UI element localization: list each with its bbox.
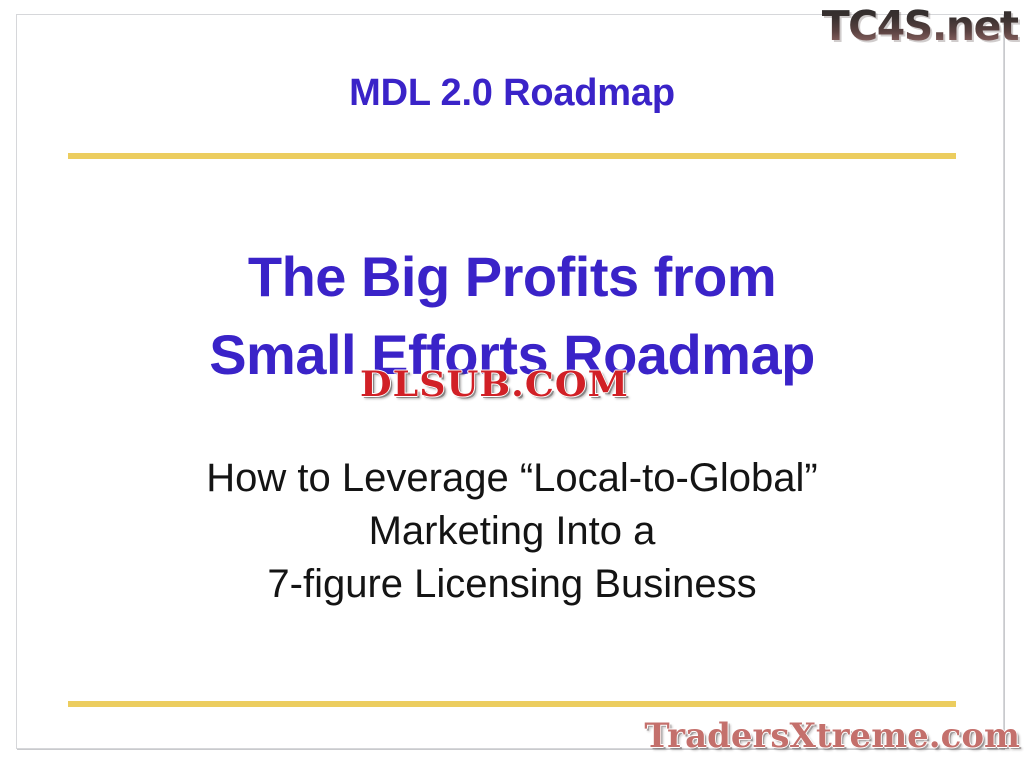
watermark-dlsub: DLSUB.COM — [360, 364, 629, 405]
slide-root: MDL 2.0 Roadmap The Big Profits from Sma… — [0, 0, 1024, 768]
body-line-2: Marketing Into a — [0, 505, 1024, 558]
body-copy-block: How to Leverage “Local-to-Global” Market… — [0, 452, 1024, 611]
body-line-1: How to Leverage “Local-to-Global” — [0, 452, 1024, 505]
page-title: MDL 2.0 Roadmap — [0, 72, 1024, 115]
headline-line-1: The Big Profits from — [0, 238, 1024, 316]
divider-rule-bottom — [68, 701, 956, 707]
watermark-tc4s: TC4S.net — [822, 2, 1018, 50]
watermark-tradersxtreme: TradersXtreme.com — [644, 716, 1020, 756]
divider-rule-top — [68, 153, 956, 159]
body-line-3: 7-figure Licensing Business — [0, 558, 1024, 611]
